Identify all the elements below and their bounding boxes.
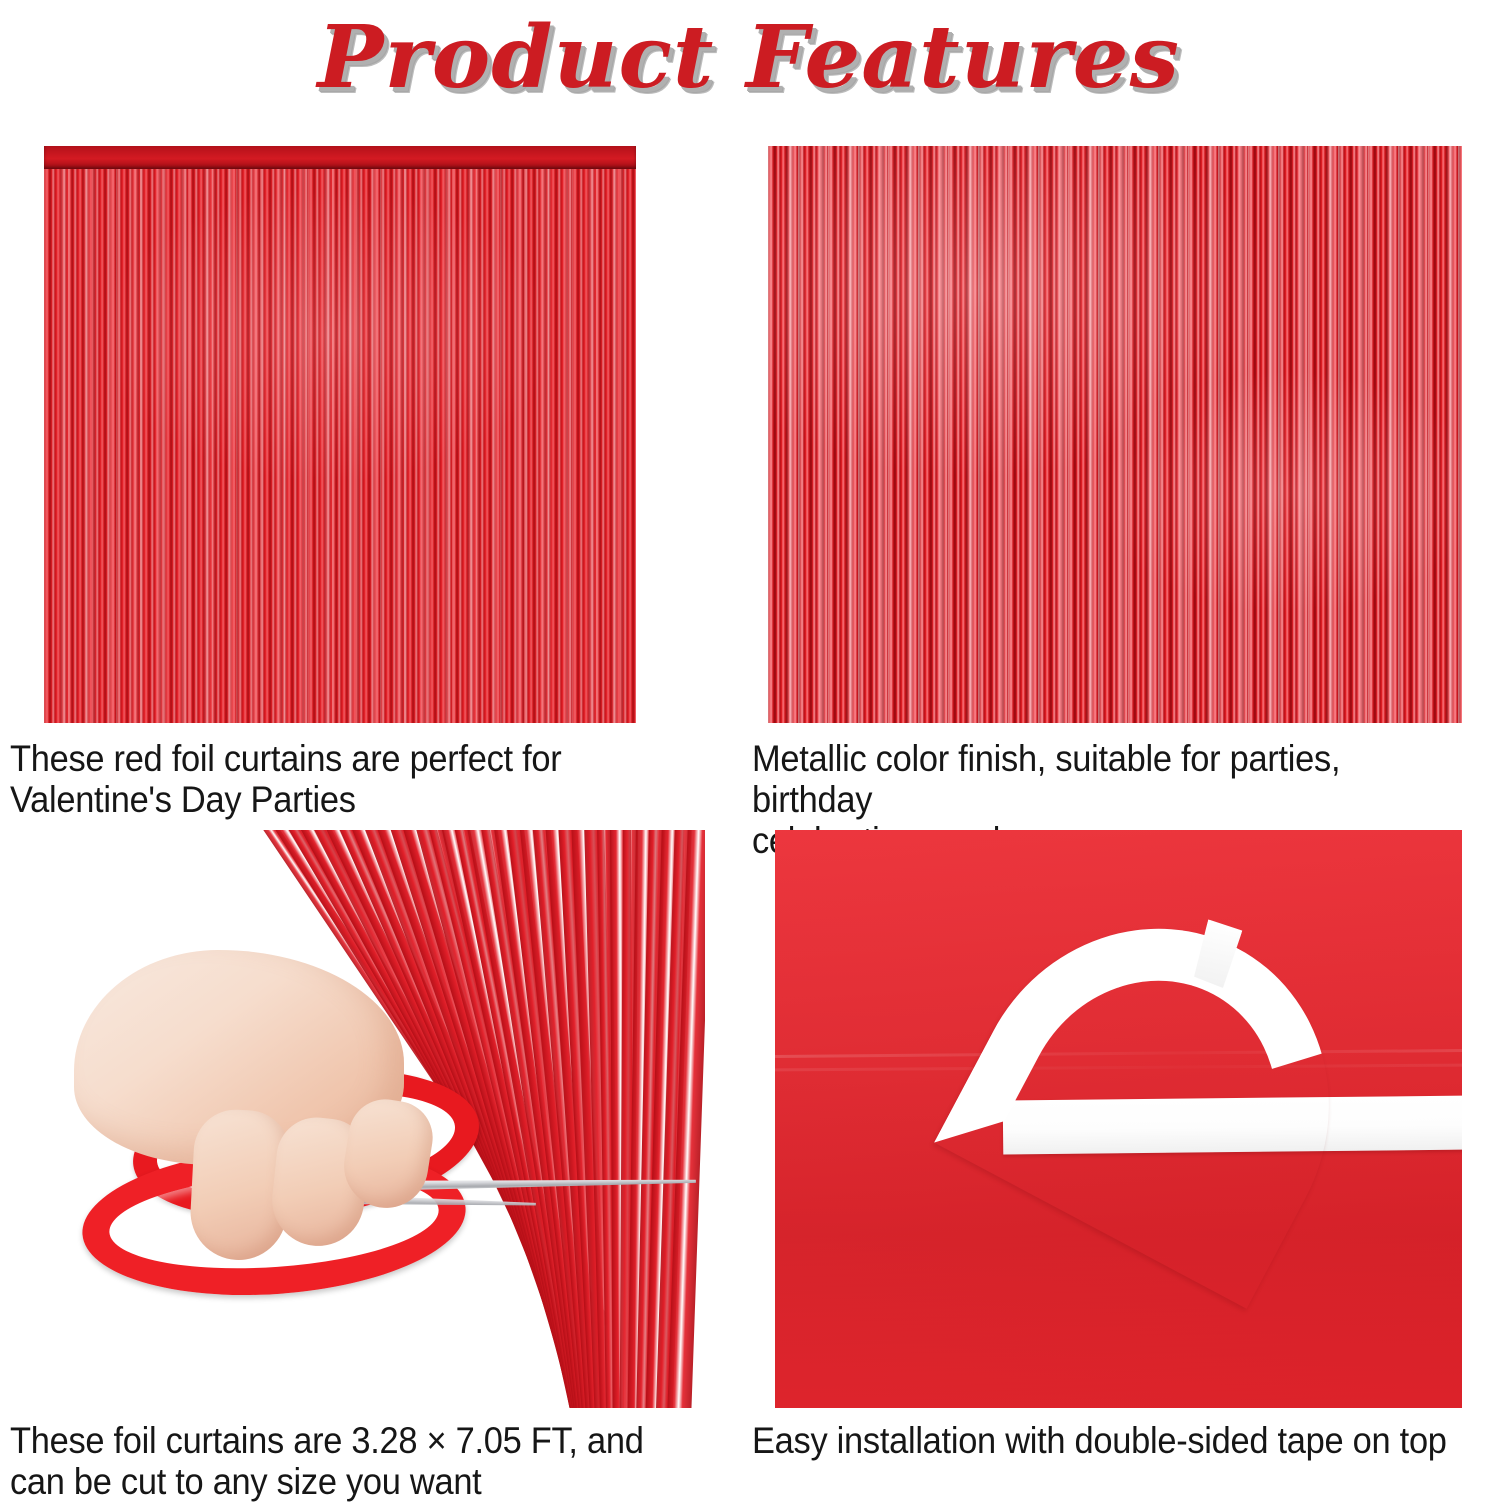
feature-caption-valentines: These red foil curtains are perfect for … — [10, 738, 661, 820]
tape-scene — [775, 830, 1462, 1408]
feature-image-double-sided-tape — [775, 830, 1462, 1408]
tape-peeled-arc — [934, 865, 1394, 1308]
red-foil-curtain-texture — [44, 146, 636, 723]
cutting-scene — [44, 830, 705, 1408]
feature-image-foil-curtain-closeup — [768, 146, 1462, 723]
feature-caption-installation: Easy installation with double-sided tape… — [752, 1420, 1459, 1461]
feature-image-cutting-with-scissors — [44, 830, 705, 1408]
feature-caption-dimensions: These foil curtains are 3.28 × 7.05 FT, … — [10, 1420, 680, 1502]
hand — [74, 950, 494, 1280]
page-title: Product Features — [318, 15, 1180, 101]
page-header: Product Features — [0, 6, 1498, 110]
red-foil-curtain-closeup-texture — [768, 146, 1462, 723]
feature-image-foil-curtain-with-header-bar — [44, 146, 636, 723]
